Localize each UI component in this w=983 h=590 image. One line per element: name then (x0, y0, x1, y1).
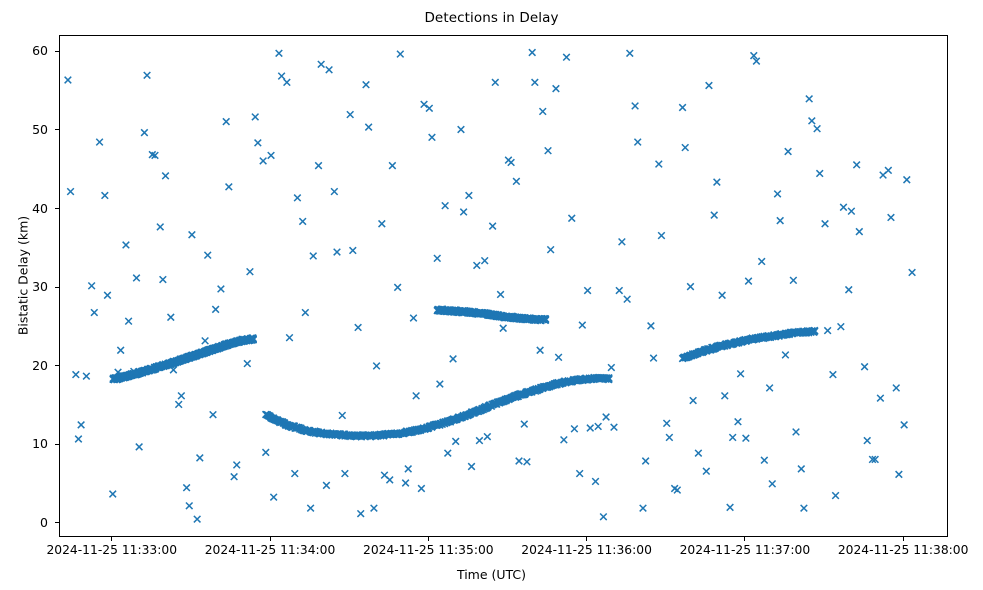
data-point (96, 139, 103, 146)
x-tick-label: 2024-11-25 11:34:00 (205, 543, 336, 557)
data-point (634, 139, 641, 146)
chart-title: Detections in Delay (0, 10, 983, 26)
data-point (194, 516, 201, 523)
data-point (260, 158, 267, 165)
data-point (838, 323, 845, 330)
data-point (489, 223, 496, 230)
data-point (350, 247, 357, 254)
data-point (840, 204, 847, 211)
data-point (109, 491, 116, 498)
data-point (323, 482, 330, 489)
data-point (737, 371, 744, 378)
data-point (579, 322, 586, 329)
data-point (157, 224, 164, 231)
data-point (397, 51, 404, 58)
data-point (339, 412, 346, 419)
data-point (117, 347, 124, 354)
y-axis-tick: 0 (0, 516, 59, 530)
data-point (73, 371, 80, 378)
data-point (136, 444, 143, 451)
data-point (484, 433, 491, 440)
data-point (65, 77, 72, 84)
data-point (845, 286, 852, 293)
data-point (334, 249, 341, 256)
data-point (587, 425, 594, 432)
data-point (389, 162, 396, 169)
data-point (244, 360, 251, 367)
data-point (576, 470, 583, 477)
y-tick-mark (55, 444, 59, 445)
data-point (162, 173, 169, 180)
y-tick-label: 60 (32, 44, 48, 58)
data-point (658, 232, 665, 239)
data-point (703, 468, 710, 475)
data-point (640, 505, 647, 512)
data-point (761, 457, 768, 464)
x-tick-label: 2024-11-25 11:33:00 (46, 543, 177, 557)
data-point (476, 437, 483, 444)
data-point (901, 422, 908, 429)
data-point (405, 466, 412, 473)
y-axis-tick: 30 (0, 280, 59, 294)
data-point (537, 347, 544, 354)
data-point (75, 436, 82, 443)
data-point (268, 152, 275, 159)
data-point (735, 418, 742, 425)
data-point (798, 466, 805, 473)
data-point (418, 485, 425, 492)
data-point (516, 458, 523, 465)
y-tick-mark (55, 287, 59, 288)
data-point (373, 363, 380, 370)
data-point (539, 108, 546, 115)
data-point (413, 393, 420, 400)
data-point (442, 202, 449, 209)
data-point (315, 162, 322, 169)
data-point (790, 277, 797, 284)
data-point (497, 291, 504, 298)
data-point (745, 278, 752, 285)
data-point (286, 334, 293, 341)
data-point (893, 385, 900, 392)
data-point (727, 504, 734, 511)
data-point (255, 140, 262, 147)
data-point (909, 269, 916, 276)
data-point (885, 167, 892, 174)
data-point (571, 426, 578, 433)
data-point (183, 484, 190, 491)
data-point (437, 381, 444, 388)
data-point (793, 429, 800, 436)
data-point (611, 424, 618, 431)
x-tick-mark (744, 537, 745, 541)
data-point (896, 471, 903, 478)
data-point (492, 79, 499, 86)
data-point (743, 435, 750, 442)
data-point (721, 393, 728, 400)
scatter-svg (60, 36, 948, 537)
data-point (218, 286, 225, 293)
data-point (468, 463, 475, 470)
data-point (394, 284, 401, 291)
data-point (357, 510, 364, 517)
x-tick-mark (428, 537, 429, 541)
data-point (212, 306, 219, 313)
data-point (806, 96, 813, 103)
data-point (719, 292, 726, 299)
data-point (278, 73, 285, 80)
data-point (355, 324, 362, 331)
data-point (782, 352, 789, 359)
x-tick-label: 2024-11-25 11:38:00 (838, 543, 969, 557)
data-point (167, 314, 174, 321)
y-tick-label: 10 (32, 437, 48, 451)
data-point (326, 66, 333, 73)
data-point (648, 323, 655, 330)
data-point (175, 401, 182, 408)
data-point (204, 252, 211, 259)
data-point (774, 191, 781, 198)
data-point (563, 54, 570, 61)
data-point (822, 220, 829, 227)
y-tick-mark (55, 365, 59, 366)
data-point (547, 246, 554, 253)
data-point (160, 276, 167, 283)
data-point (452, 438, 459, 445)
data-point (824, 327, 831, 334)
data-point (133, 275, 140, 282)
data-point (307, 505, 314, 512)
data-point (363, 81, 370, 88)
data-point (663, 420, 670, 427)
data-point (695, 450, 702, 457)
y-axis-tick: 40 (0, 202, 59, 216)
data-point (600, 513, 607, 520)
y-axis-tick: 60 (0, 44, 59, 58)
data-point (302, 309, 309, 316)
data-point (656, 161, 663, 168)
data-point (410, 315, 417, 322)
data-point (331, 188, 338, 195)
x-axis-label: Time (UTC) (0, 567, 983, 582)
data-point (830, 371, 837, 378)
data-point (421, 101, 428, 108)
data-point (342, 470, 349, 477)
data-point (619, 239, 626, 246)
data-point (553, 85, 560, 92)
data-point (365, 124, 372, 131)
data-point (104, 292, 111, 299)
y-axis-tick: 50 (0, 123, 59, 137)
data-point (402, 480, 409, 487)
data-point (666, 434, 673, 441)
data-point (627, 50, 634, 57)
data-point (690, 397, 697, 404)
y-tick-mark (55, 51, 59, 52)
data-point (861, 363, 868, 370)
data-point (555, 354, 562, 361)
data-point (521, 421, 528, 428)
data-point (474, 262, 481, 269)
data-point (386, 477, 393, 484)
data-point (888, 214, 895, 221)
data-point (429, 134, 436, 141)
data-point (529, 49, 536, 56)
data-point (848, 208, 855, 215)
data-point (903, 176, 910, 183)
data-point (226, 184, 233, 191)
data-point (777, 217, 784, 224)
data-point (816, 170, 823, 177)
data-point (371, 505, 378, 512)
y-tick-mark (55, 129, 59, 130)
data-point (785, 148, 792, 155)
y-tick-label: 40 (32, 202, 48, 216)
data-point (141, 129, 148, 136)
x-tick-label: 2024-11-25 11:36:00 (521, 543, 652, 557)
data-point (202, 338, 209, 345)
data-point (584, 287, 591, 294)
data-point (809, 118, 816, 125)
data-point (592, 478, 599, 485)
data-point (642, 458, 649, 465)
x-tick-mark (270, 537, 271, 541)
data-point (595, 423, 602, 430)
data-point (186, 502, 193, 509)
data-point (67, 188, 74, 195)
data-point (729, 434, 736, 441)
data-point (178, 393, 185, 400)
data-point (123, 242, 130, 249)
data-point (450, 356, 457, 363)
data-point (561, 436, 568, 443)
data-point (632, 103, 639, 110)
data-point (706, 82, 713, 89)
data-point (616, 287, 623, 294)
data-point (276, 50, 283, 57)
data-point (603, 414, 610, 421)
data-point (233, 462, 240, 469)
x-tick-mark (586, 537, 587, 541)
data-point (674, 487, 681, 494)
data-point (247, 268, 254, 275)
data-point (877, 395, 884, 402)
data-point (513, 178, 520, 185)
data-point (125, 318, 132, 325)
data-point (814, 125, 821, 132)
y-tick-mark (55, 522, 59, 523)
data-point (144, 72, 151, 79)
plot-area (59, 35, 948, 537)
x-tick-mark (111, 537, 112, 541)
data-point (444, 450, 451, 457)
data-point (262, 449, 269, 456)
data-point (500, 325, 507, 332)
data-point (310, 253, 317, 260)
data-point (856, 228, 863, 235)
y-axis-tick: 10 (0, 437, 59, 451)
data-point (458, 126, 465, 133)
data-point (758, 258, 765, 265)
data-point (687, 283, 694, 290)
data-point (223, 118, 230, 125)
data-point (864, 437, 871, 444)
data-point (801, 505, 808, 512)
data-point (299, 218, 306, 225)
y-tick-label: 0 (40, 516, 48, 530)
data-point (532, 79, 539, 86)
data-point (284, 79, 291, 86)
data-point (318, 61, 325, 68)
y-axis-tick: 20 (0, 359, 59, 373)
data-point (189, 231, 196, 238)
data-point (426, 105, 433, 112)
data-point (270, 494, 277, 501)
data-point (624, 296, 631, 303)
data-point (766, 385, 773, 392)
data-point (102, 192, 109, 199)
data-point (294, 195, 301, 202)
chart-figure: Detections in Delay Bistatic Delay (km) … (0, 0, 983, 590)
data-point (91, 309, 98, 316)
data-point (83, 373, 90, 380)
y-tick-mark (55, 208, 59, 209)
data-point (460, 209, 467, 216)
data-point (291, 470, 298, 477)
data-point (568, 215, 575, 222)
data-point (853, 162, 860, 169)
data-point (197, 455, 204, 462)
data-point (88, 283, 95, 290)
data-point (252, 114, 259, 121)
data-point (545, 147, 552, 154)
data-point (347, 111, 354, 118)
data-point (682, 144, 689, 151)
data-point (481, 257, 488, 264)
data-point (434, 255, 441, 262)
data-point (714, 179, 721, 186)
x-tick-label: 2024-11-25 11:35:00 (363, 543, 494, 557)
data-point (608, 364, 615, 371)
data-point (711, 212, 718, 219)
y-tick-label: 50 (32, 123, 48, 137)
x-tick-label: 2024-11-25 11:37:00 (680, 543, 811, 557)
data-point (769, 480, 776, 487)
data-point (210, 411, 217, 418)
data-point (524, 458, 531, 465)
data-point (679, 104, 686, 111)
data-point (379, 220, 386, 227)
x-tick-mark (903, 537, 904, 541)
data-point (650, 355, 657, 362)
data-point (508, 159, 515, 166)
y-tick-label: 30 (32, 280, 48, 294)
data-point (466, 192, 473, 199)
data-point (78, 422, 85, 429)
data-point (231, 473, 238, 480)
y-tick-label: 20 (32, 359, 48, 373)
data-point (832, 492, 839, 499)
